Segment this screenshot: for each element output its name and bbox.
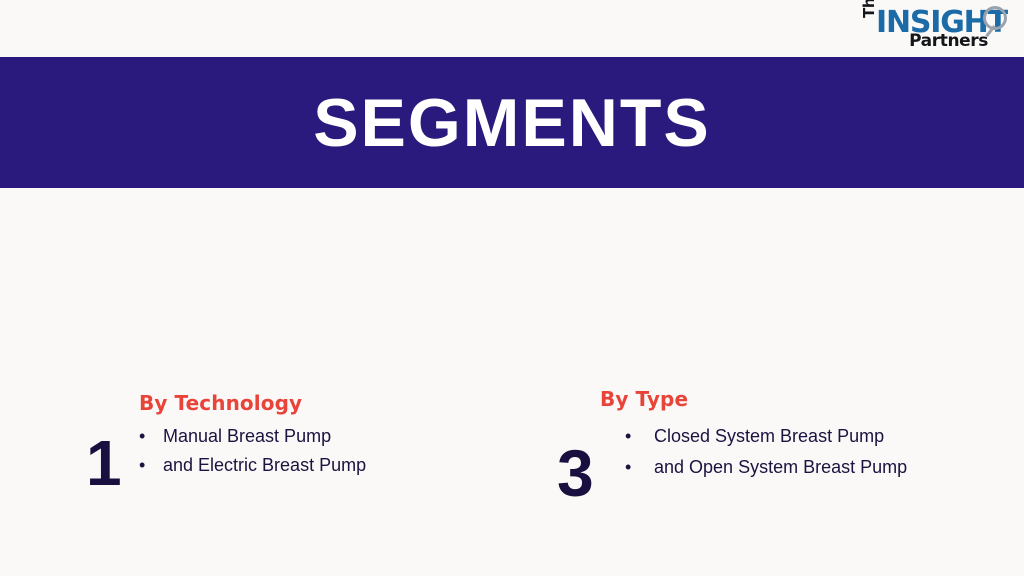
segment-block-type: 3 By Type • Closed System Breast Pump • … — [512, 188, 1024, 382]
slide: The INSIGHT Partners SEGMENTS 1 By Techn… — [0, 0, 1024, 576]
page-title: SEGMENTS — [313, 89, 711, 157]
segment-block-distribution-channel: 2 By Distribution Channel • Consumer Sto… — [0, 382, 512, 576]
top-bar: The INSIGHT Partners — [0, 0, 1024, 57]
segment-block-geography: 4 By Geography • North America • Europe … — [512, 382, 1024, 576]
title-banner: SEGMENTS — [0, 57, 1024, 188]
segment-block-technology: 1 By Technology • Manual Breast Pump • a… — [0, 188, 512, 382]
logo-partners-text: Partners — [909, 33, 988, 50]
insight-partners-logo: The INSIGHT Partners — [858, 4, 1010, 52]
